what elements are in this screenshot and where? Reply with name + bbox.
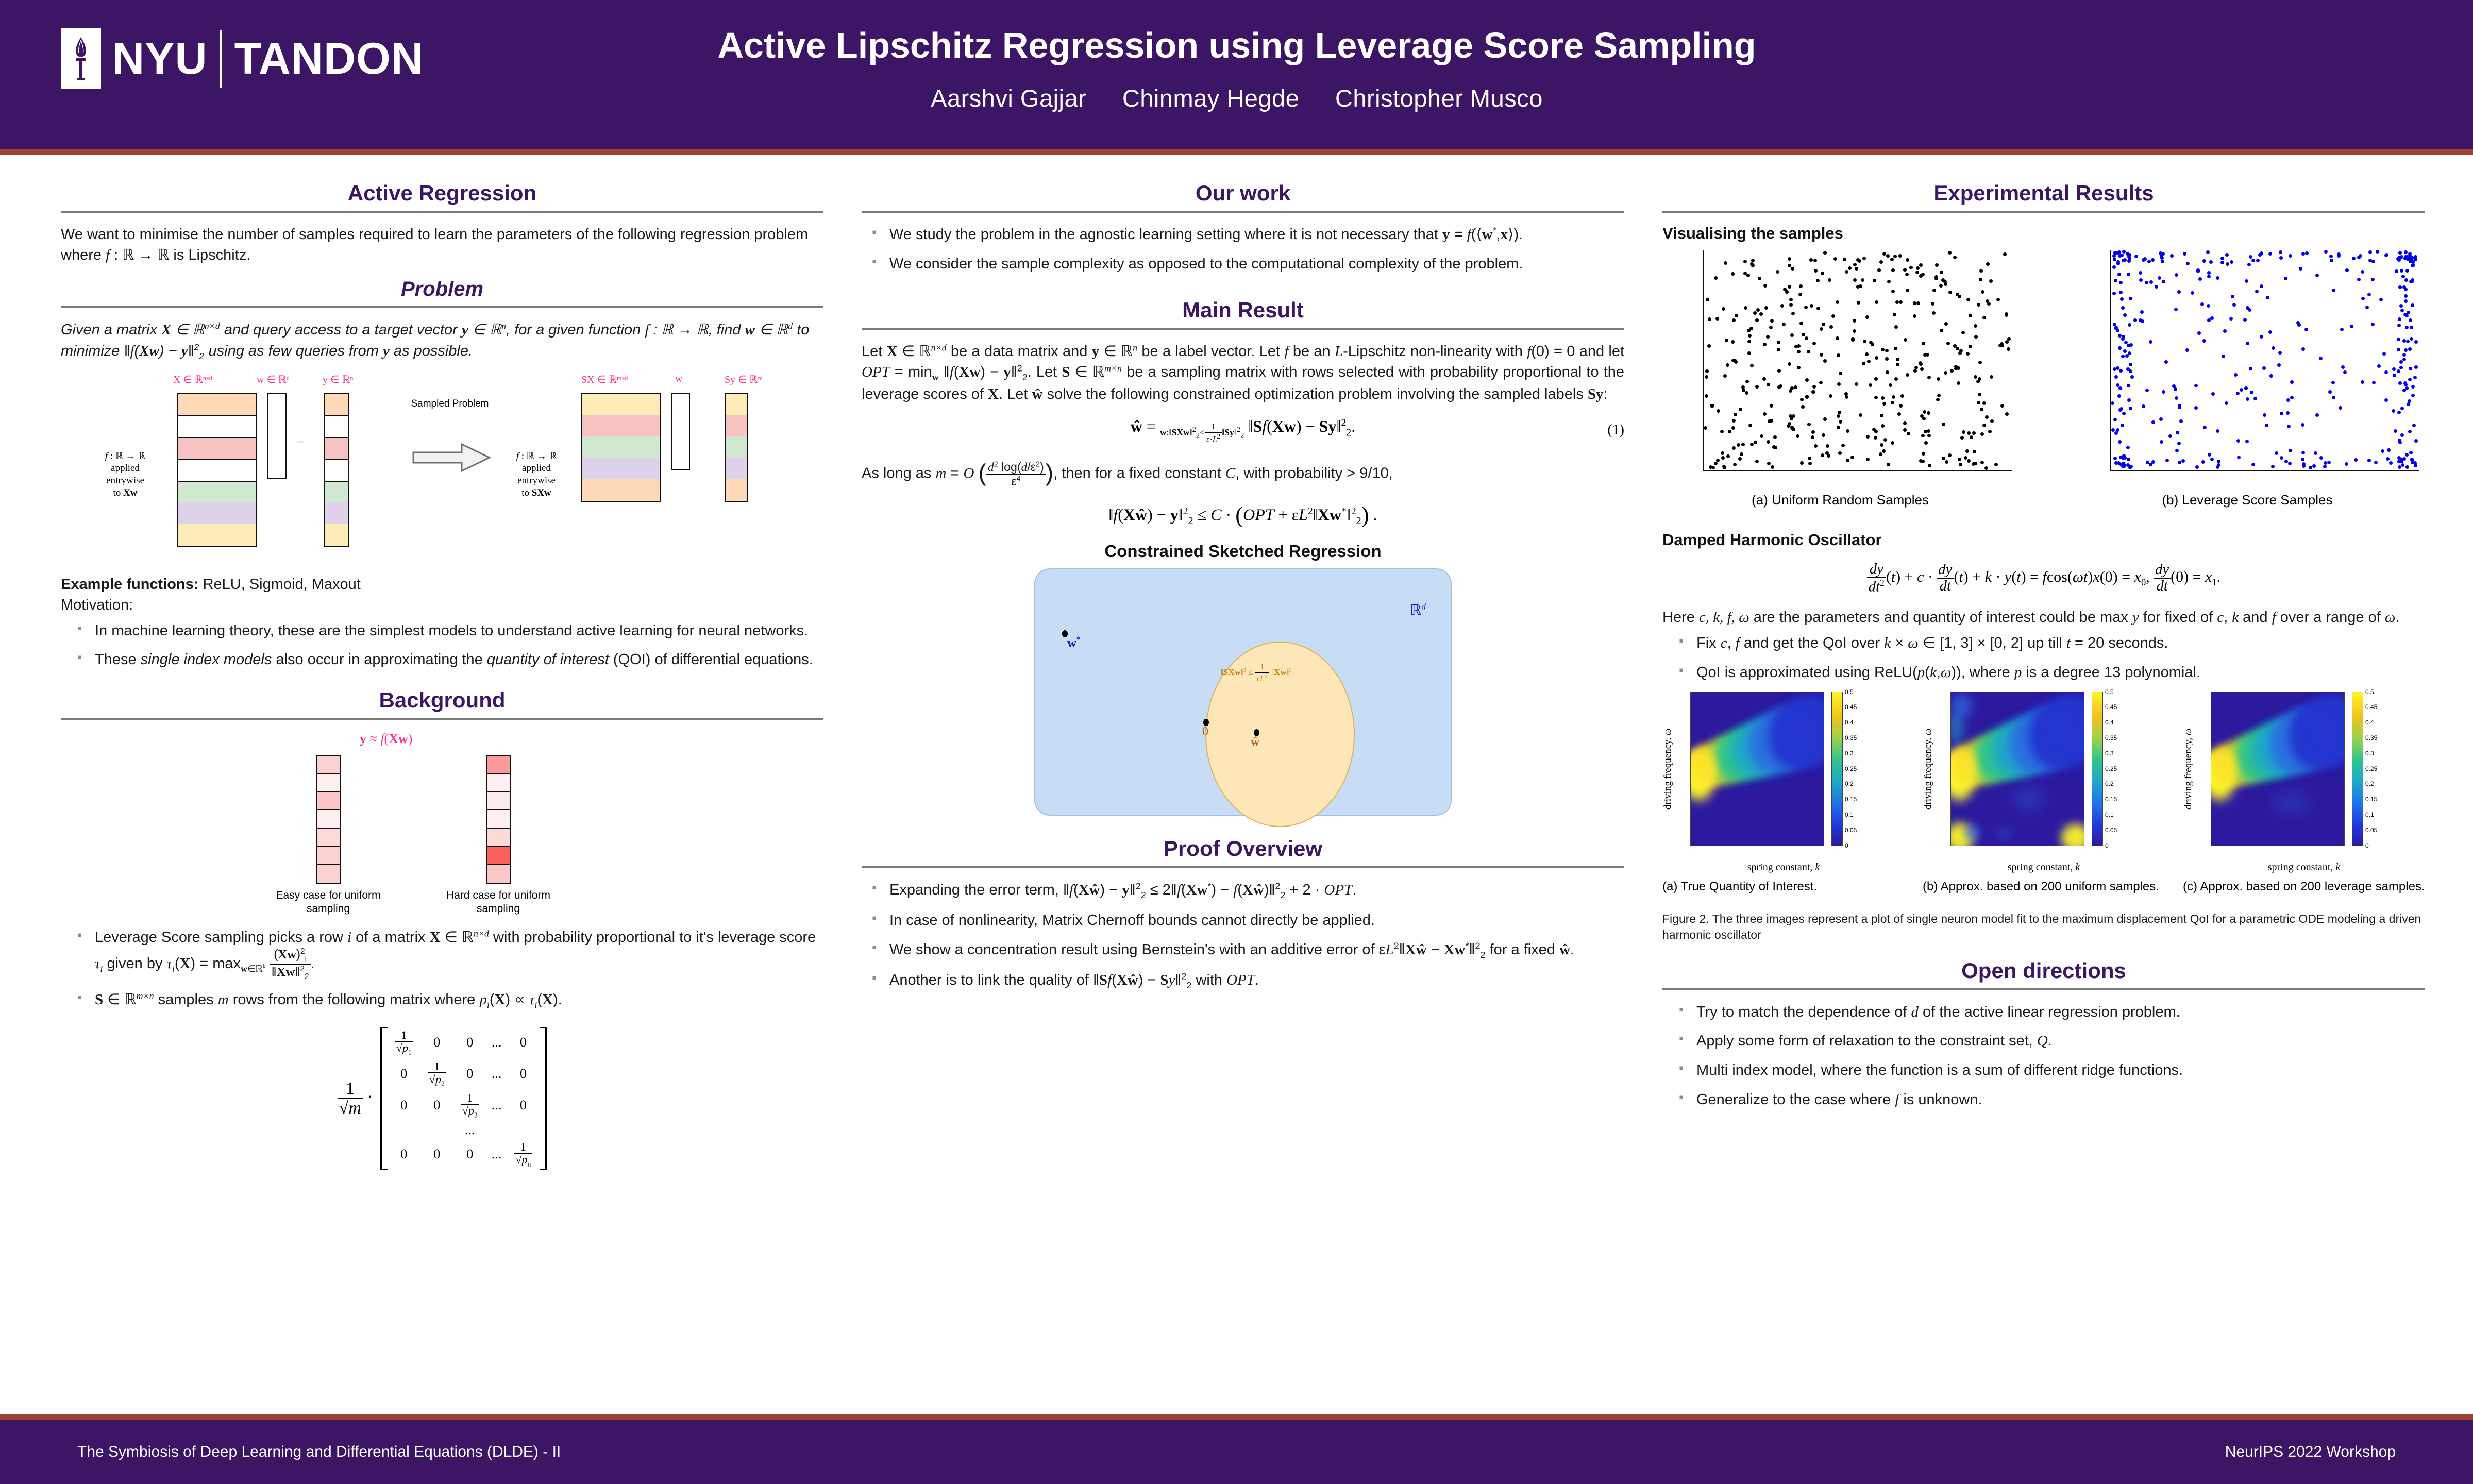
data-point [2404,348,2408,352]
heatmap-a-caption: (a) True Quantity of Interest. [1662,879,1905,895]
axis-tick-y: 1.2 [1950,750,1951,757]
data-point [1954,367,1958,370]
data-point [1767,462,1771,465]
data-point [2315,413,2319,417]
y-approx-label: y ≈ f(Xw) [360,731,412,747]
scatter-plot-b: -1-0.8-0.6-0.4-0.200.20.40.60.81-1-0.8-0… [2070,250,2425,508]
data-point [1961,331,1965,334]
section-title-experimental-results: Experimental Results [1662,181,2425,206]
list-item: Try to match the dependence of d of the … [1676,1002,2425,1023]
colorbar-tick: 0.2 [1842,780,1854,787]
data-point [2185,348,2189,352]
colorbar-tick: 0.5 [2363,688,2374,696]
data-point [2384,370,2388,374]
data-point [1732,419,1736,423]
axis-tick-y: 0.8 [2211,780,2211,787]
data-point [1777,348,1780,351]
data-point [1833,257,1837,261]
data-point [2200,302,2204,306]
figure-2-note: Figure 2. The three images represent a p… [1662,911,2425,943]
axis-tick-y: 0.6 [1703,290,1704,298]
data-point [2140,310,2144,314]
data-point [1808,457,1811,460]
data-point [2245,279,2248,283]
axis-tick-x: -0.4 [1789,470,1803,471]
axis-tick-x: 0.4 [1914,470,1925,471]
data-point [2400,433,2404,437]
data-point [1919,361,1922,365]
data-point [2178,404,2181,408]
data-point [2340,328,2344,331]
data-point [1974,375,1977,379]
data-point [1879,260,1883,264]
data-point [2118,440,2122,444]
data-point [1791,312,1795,315]
data-point [1770,319,1774,323]
axis-tick-x: 0.6 [2352,470,2363,471]
data-point [1899,300,1903,304]
data-point [1891,290,1895,293]
main-result-paragraph: Let X ∈ ℝn×d be a data matrix and y ∈ ℝn… [862,341,1624,404]
data-point [2129,369,2132,373]
data-point [2288,462,2292,465]
axis-tick-y: 1 [1950,765,1951,772]
data-point [1813,259,1817,262]
data-point [1924,430,1927,433]
data-point [1872,428,1876,431]
data-point [2304,328,2308,331]
data-point [2149,340,2152,344]
data-point [1726,363,1729,367]
data-point [1893,313,1896,316]
data-point [1972,431,1976,435]
table-row: 1√p1 0 0 ... 0 [388,1027,540,1058]
csr-space-label: ℝd [1410,601,1426,619]
axis-tick-x: 1 [1950,846,1953,846]
data-point [2365,306,2369,309]
minus-sign: − [297,434,305,450]
data-point [1987,302,1991,306]
data-point [1705,369,1709,373]
data-point [2405,269,2409,273]
data-point [2405,386,2409,390]
data-point [2397,460,2401,463]
vector-w [267,393,287,479]
data-point [1792,414,1795,418]
data-point [2117,394,2121,398]
example-functions-label: Example functions: [61,576,199,593]
data-point [1831,314,1835,318]
data-point [1802,333,1805,336]
axis-tick-y: -0.2 [1703,378,1704,386]
data-point [1931,302,1934,306]
axis-tick-y: 0.6 [2110,290,2111,298]
data-point [1777,369,1781,373]
data-point [2181,459,2185,463]
heatmap-b-ylabel: driving frequency, ω [1923,692,1934,846]
colorbar-tick: 0.15 [2102,796,2117,803]
matrix-table: 1√p1 0 0 ... 0 0 1√p2 0 ... 0 0 [388,1027,540,1170]
data-point [1704,426,1707,430]
data-point [2174,387,2177,391]
data-point [1880,414,1883,417]
data-point [2121,355,2125,358]
data-point [1865,352,1869,356]
data-point [2123,313,2127,317]
data-point [1739,408,1742,411]
data-point [2405,326,2409,329]
axis-tick-y: -0.6 [2110,422,2111,431]
list-item: These single index models also occur in … [74,649,823,670]
data-point [1819,381,1823,384]
heatmap-blob [2273,793,2309,814]
data-point [2260,251,2263,255]
data-point [2168,434,2172,438]
data-point [2151,258,2155,262]
data-point [2379,298,2383,301]
table-row: 0 0 0 ... 1√pn [388,1139,540,1170]
data-point [2119,291,2123,294]
data-point [1882,449,1886,453]
data-point [1823,359,1827,363]
data-point [1759,312,1763,316]
easy-case-bar [316,755,341,884]
data-point [1826,444,1829,448]
data-point [2328,390,2332,394]
data-point [2203,426,2207,429]
scatter-plot-row: -1-0.8-0.6-0.4-0.200.20.40.60.81-1-0.8-0… [1662,250,2425,508]
axis-tick-y: 0.8 [2110,267,2111,276]
data-point [1869,341,1873,344]
data-point [2119,281,2123,284]
axis-tick-x: -1 [1703,470,1707,471]
data-point [2217,460,2220,463]
data-point [2408,378,2412,381]
axis-tick-y: 1 [1703,250,1704,255]
data-point [1773,435,1777,439]
data-point [1882,402,1886,406]
data-point [1750,443,1754,446]
data-point [2350,325,2353,328]
scatter-a-plot-area: -1-0.8-0.6-0.4-0.200.20.40.60.81-1-0.8-0… [1703,250,2012,471]
data-point [1978,361,1982,364]
data-point [1738,457,1742,461]
data-point [2225,253,2229,257]
axis-tick-y: 0 [2110,356,2111,365]
data-point [2118,408,2122,412]
heatmap-blob [2212,747,2235,783]
data-point [2151,420,2155,424]
data-point [1732,446,1736,450]
data-point [2368,250,2372,254]
data-point [1767,383,1770,386]
csr-title: Constrained Sketched Regression [862,542,1624,561]
data-point [1970,435,1973,439]
data-point [2248,308,2251,312]
axis-tick-y: 0 [1703,356,1704,365]
data-point [2245,440,2249,443]
data-point [1837,426,1840,429]
data-point [2361,380,2364,384]
data-point [2330,259,2333,262]
colorbar-tick: 0.35 [2102,734,2117,741]
data-point [2408,430,2412,433]
data-point [2201,460,2205,464]
list-item: Generalize to the case where f is unknow… [1676,1089,2425,1110]
axis-tick-x: 2.6 [2054,846,2061,846]
section-title-main-result: Main Result [862,298,1624,323]
data-point [2280,412,2283,415]
data-point [2118,346,2122,350]
data-point [2125,354,2129,358]
data-point [2146,461,2149,464]
data-point [1705,394,1708,398]
data-point [2414,439,2418,443]
data-point [1837,353,1840,357]
data-point [2256,259,2260,262]
axis-tick-x: 2.4 [2300,846,2308,846]
axis-tick-x: 1 [2010,470,2012,471]
data-point [2127,259,2131,263]
data-point [1985,415,1989,419]
section-title-active-regression: Active Regression [61,181,823,206]
data-point [1837,382,1841,386]
data-point [2414,258,2417,261]
data-point [1891,268,1895,272]
heatmap-c-caption: (c) Approx. based on 200 leverage sample… [2183,879,2425,895]
background-diagram: y ≈ f(Xw) Easy case for uniform s [61,731,823,901]
axis-tick-x: 0.2 [1883,470,1894,471]
data-point [2232,303,2236,307]
data-point [2323,465,2327,468]
axis-tick-y: 1.4 [1690,734,1691,741]
data-point [2389,461,2393,465]
data-point [2354,458,2358,462]
data-point [1820,327,1823,331]
data-point [2249,255,2252,259]
data-point [2408,347,2412,351]
data-point [2277,363,2281,367]
axis-tick-y: 0.6 [1950,796,1951,803]
data-point [2405,453,2409,457]
data-point [1939,284,1943,288]
data-point [2116,366,2119,370]
axis-tick-y: 1 [2110,250,2111,255]
data-point [1734,360,1738,364]
data-point [2359,254,2362,258]
data-point [1853,263,1857,266]
colorbar-tick: 0.45 [2102,703,2117,711]
data-point [2301,423,2304,427]
data-point [1894,377,1898,381]
data-point [2162,390,2165,394]
data-point [1823,251,1827,255]
data-point [2345,462,2348,466]
hard-case-bar [486,755,511,884]
data-point [1932,311,1936,315]
data-point [2202,339,2206,343]
data-point [2345,268,2349,272]
colorbar-tick: 0.25 [2363,765,2377,772]
colorbar-tick: 0 [1842,842,1848,849]
data-point [1977,303,1980,307]
data-point [1841,444,1845,447]
diagram-label-y: y ∈ ℝⁿ [323,373,354,386]
csr-origin-label: 0 [1202,725,1208,739]
data-point [2414,464,2417,467]
data-point [2337,252,2341,256]
colorbar-tick: 0.3 [2363,750,2374,757]
data-point [2134,255,2138,258]
data-point [2007,347,2010,351]
data-point [1906,373,1909,377]
axis-tick-x: -0.6 [2166,470,2179,471]
data-point [1948,251,1952,255]
data-point [1792,428,1795,431]
data-point [2410,337,2413,341]
data-point [1935,263,1939,267]
problem-heading: Problem [61,278,823,301]
data-point [2385,253,2388,257]
colorbar-tick: 0.35 [1842,734,1857,741]
data-point [2158,276,2161,280]
data-point [2400,269,2403,273]
data-point [2236,439,2240,443]
logo-tandon-text: TANDON [234,33,424,85]
axis-tick-x: 2.8 [2327,846,2335,846]
data-point [1740,452,1743,456]
motivation-label: Motivation: [61,595,823,615]
data-point [2368,259,2372,262]
data-point [2301,347,2305,351]
data-point [1890,258,1894,261]
data-point [1756,308,1760,312]
data-point [1957,381,1960,385]
data-point [1990,375,1993,379]
data-point [1731,426,1735,430]
data-point [2127,273,2130,276]
axis-tick-y: -0.2 [2110,378,2111,386]
data-point [2194,406,2198,410]
data-point [2113,418,2117,421]
data-point [1896,363,1899,366]
data-point [2290,380,2294,384]
heatmap-b-plot: 00.20.40.60.811.21.41.61.8211.21.41.61.8… [1950,692,2084,846]
data-point [2207,275,2211,278]
data-point [1922,452,1925,456]
author-2: Chinmay Hegde [1122,85,1300,112]
data-point [1932,289,1936,292]
data-point [2234,373,2238,377]
data-point [1966,352,1970,356]
data-point [1953,256,1957,259]
data-point [1944,282,1947,286]
axis-tick-x: 0 [1856,470,1860,471]
data-point [2302,464,2306,468]
data-point [2118,386,2122,390]
data-point [2289,254,2292,258]
data-point [2117,273,2121,276]
data-point [2414,365,2418,369]
list-item: Multi index model, where the function is… [1676,1060,2425,1081]
ode-description: Here c, k, f, ω are the parameters and q… [1662,607,2425,628]
data-point [1986,262,1990,266]
axis-tick-y: 0.4 [1703,312,1704,321]
data-point [1881,424,1885,428]
data-point [1820,353,1823,357]
data-point [1996,298,2000,301]
data-point [1941,278,1945,282]
data-point [1812,342,1816,345]
data-point [1790,333,1794,337]
axis-tick-x: -0.6 [1759,470,1772,471]
arrow-label: Sampled Problem [406,398,494,411]
data-point [2399,366,2403,369]
list-item: Apply some form of relaxation to the con… [1676,1031,2425,1052]
axis-tick-x: 1 [2417,470,2419,471]
data-point [1797,366,1801,369]
data-point [1791,267,1794,271]
data-point [2404,278,2408,282]
data-point [1913,314,1916,318]
data-point [2207,318,2211,322]
data-point [1823,417,1827,421]
data-point [1981,290,1984,294]
intro-paragraph: We want to minimise the number of sample… [61,224,823,265]
data-point [1865,315,1869,319]
axis-tick-x: 2.8 [1807,846,1814,846]
arrow-icon [411,440,494,476]
data-point [1723,466,1726,469]
data-point [1887,280,1891,283]
footer-left-text: The Symbiosis of Deep Learning and Diffe… [77,1443,561,1461]
data-point [1770,404,1773,408]
data-point [1814,444,1818,448]
data-point [1763,412,1767,416]
data-point [1721,456,1725,460]
data-point [1748,424,1752,427]
colorbar-tick: 0.5 [2102,688,2114,696]
axis-tick-x: 2.2 [2287,846,2295,846]
data-point [2196,268,2200,272]
data-point [1950,369,1954,373]
data-point [1800,461,1804,465]
data-point [2287,425,2291,428]
data-point [2268,252,2272,256]
data-point [2275,451,2278,455]
axis-tick-y: 1.4 [1950,734,1951,741]
data-point [2376,250,2379,254]
logo-nyu-text: NYU [112,33,208,85]
data-point [2162,280,2165,283]
data-point [1722,307,1725,311]
data-point [1940,271,1943,274]
data-point [2145,389,2149,392]
data-point [2116,428,2119,432]
colorbar-tick: 0.3 [1842,750,1854,757]
list-item: Expanding the error term, ‖f(Xŵ) − y‖22 … [869,880,1624,902]
data-point [1866,435,1870,439]
data-point [1748,334,1752,338]
axis-tick-x: 1.8 [2261,846,2268,846]
data-point [2249,367,2252,370]
data-point [2327,461,2331,464]
data-point [2121,424,2124,427]
axis-tick-y: 0.8 [1690,780,1691,787]
axis-tick-x: 1.4 [1974,846,1981,846]
data-point [2371,323,2375,326]
data-point [1919,274,1923,278]
